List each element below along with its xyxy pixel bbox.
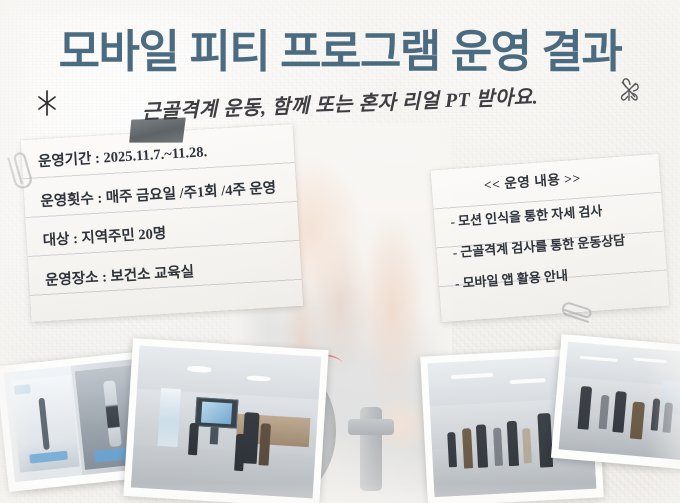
hall-floor: [559, 410, 680, 460]
content-item-posture: - 모션 인식을 통한 자세 검사: [450, 200, 654, 228]
screen-ui-chip: [14, 384, 31, 394]
screen-person-figure: [39, 398, 50, 450]
ceiling-light-strip: [633, 357, 666, 363]
info-line-target: 대상 : 지역주민 20명: [42, 220, 288, 249]
participant-figure: [188, 423, 199, 456]
info-line-frequency: 운영횟수 : 매주 금요일 /주1회 /4주 운영: [40, 180, 286, 209]
participant-figure: [599, 394, 610, 429]
program-info-card: 운영기간 : 2025.11.7.~11.28. 운영횟수 : 매주 금요일 /…: [21, 124, 303, 322]
participant-figure: [613, 391, 627, 433]
content-item-app: - 모바일 앱 활용 안내: [455, 262, 659, 290]
participant-figure: [493, 428, 503, 466]
hall-wall-panel: [236, 414, 310, 447]
info-line-venue: 운영장소 : 보건소 교육실: [45, 259, 291, 288]
participant-figure: [242, 412, 260, 464]
camera-person-figure: [103, 381, 121, 447]
page-subtitle: 근골격계 운동, 함께 또는 혼자 리얼 PT 받아요.: [0, 75, 680, 130]
asterisk-doodle-icon: [36, 88, 58, 123]
participant-figure: [447, 432, 457, 467]
content-item-consult: - 근골격계 검사를 통한 운동상담: [452, 231, 656, 259]
monitor-stand: [210, 427, 218, 444]
participant-figure: [663, 402, 673, 433]
participant-figure: [630, 402, 645, 440]
ceiling-lamp: [247, 375, 271, 382]
screen-pane-left: [10, 375, 80, 473]
photo-group-stretching-2: [551, 334, 680, 470]
participant-figure: [462, 428, 474, 469]
hall-floor: [131, 445, 315, 499]
flower-doodle-icon: [616, 76, 642, 109]
ceiling-light-strip: [451, 373, 493, 379]
ceiling-lamp: [187, 366, 211, 373]
participant-figure: [234, 434, 245, 471]
photo-gym-hall-session: [123, 338, 328, 503]
participant-figure: [522, 428, 532, 463]
info-line-period: 운영기간 : 2025.11.7.~11.28.: [38, 141, 284, 170]
participant-figure: [507, 420, 519, 466]
content-card-heading: << 운영 내용 >>: [483, 166, 652, 192]
participant-figure: [650, 398, 660, 431]
poster-canvas: 모바일 피티 프로그램 운영 결과 근골격계 운동, 함께 또는 혼자 리얼 P…: [0, 0, 680, 503]
standing-banner: [156, 388, 180, 463]
hall-ceiling: [137, 346, 321, 400]
participant-figure: [577, 386, 592, 430]
page-title: 모바일 피티 프로그램 운영 결과: [0, 28, 680, 75]
program-content-card: << 운영 내용 >> - 모션 인식을 통한 자세 검사 - 근골격계 검사를…: [431, 154, 670, 322]
hall-window: [660, 380, 680, 415]
hall-ceiling: [565, 342, 680, 388]
participant-figure: [258, 423, 271, 466]
poster-header: 모바일 피티 프로그램 운영 결과 근골격계 운동, 함께 또는 혼자 리얼 P…: [0, 0, 680, 132]
participant-figure: [537, 413, 553, 467]
photo-image: [559, 342, 680, 461]
ceiling-light-strip: [579, 356, 618, 363]
display-monitor: [195, 397, 239, 428]
ceiling-light-strip: [510, 379, 546, 385]
screen-exercise-mat: [29, 450, 68, 463]
participant-figure: [476, 425, 488, 468]
photo-image: [131, 346, 321, 499]
